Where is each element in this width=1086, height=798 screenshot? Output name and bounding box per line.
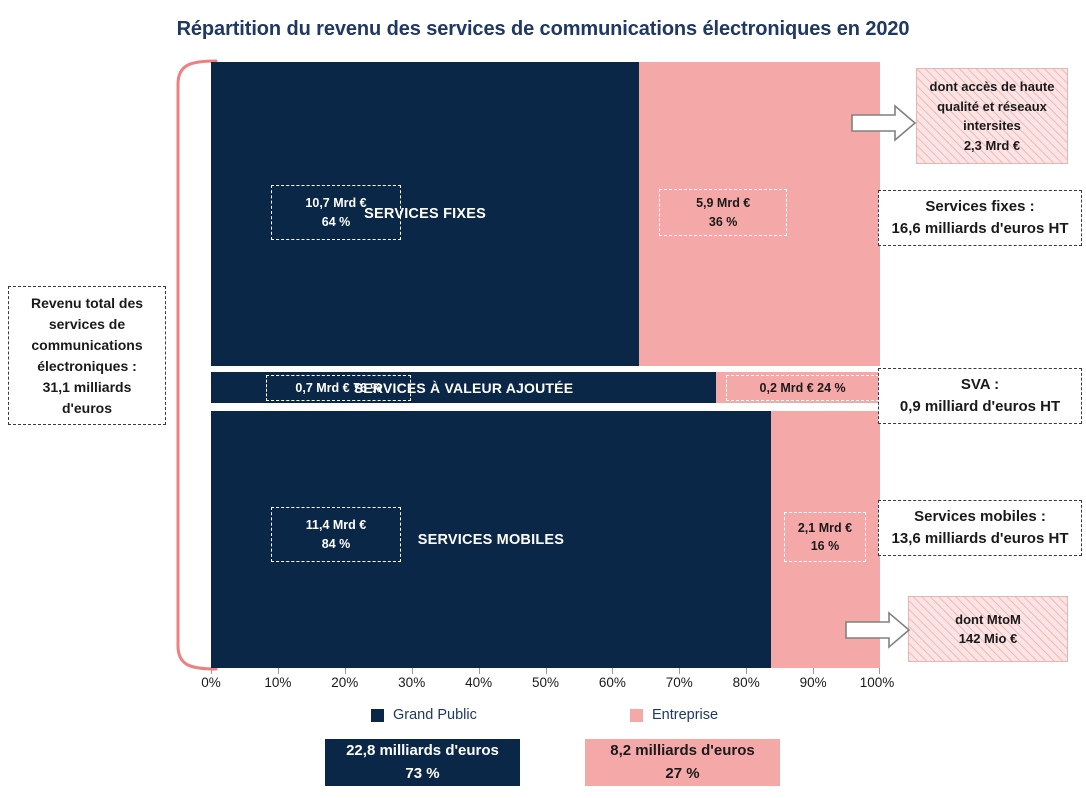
callout-sva: SVA : 0,9 milliard d'euros HT (878, 368, 1082, 424)
x-tick-label: 10% (264, 675, 291, 690)
bar-services-mobiles: 11,4 Mrd € 84 % SERVICES MOBILES 2,1 Mrd… (211, 411, 880, 668)
callout-services-fixes: Services fixes : 16,6 milliards d'euros … (878, 190, 1082, 246)
callout-revenu-total: Revenu total des services de communicati… (8, 286, 166, 425)
callout-line: 2,3 Mrd € (964, 136, 1020, 156)
chip-amount: 2,1 Mrd € (798, 519, 852, 537)
callout-line: qualité et réseaux (937, 97, 1047, 117)
chip-amount: 5,9 Mrd € (696, 194, 750, 212)
total-box-entreprise: 8,2 milliards d'euros 27 % (585, 739, 780, 786)
total-percent: 73 % (405, 763, 439, 786)
legend-item-entreprise[interactable]: Entreprise (630, 707, 718, 723)
chip-percent: 16 % (811, 537, 840, 555)
x-tick-label: 60% (599, 675, 626, 690)
total-box-grand-public: 22,8 milliards d'euros 73 % (325, 739, 520, 786)
callout-line: électroniques : (37, 356, 137, 377)
arrow-right-icon (851, 104, 917, 147)
callout-line: 13,6 milliards d'euros HT (892, 528, 1069, 551)
callout-line: d'euros (62, 398, 112, 419)
callout-line: Revenu total des (31, 293, 143, 314)
callout-haute-qualite: dont accès de haute qualité et réseaux i… (916, 68, 1068, 164)
callout-line: dont MtoM (955, 610, 1021, 630)
chip-fixes-entreprise: 5,9 Mrd € 36 % (659, 189, 787, 236)
total-amount: 22,8 milliards d'euros (346, 740, 499, 763)
callout-line: 0,9 milliard d'euros HT (900, 396, 1060, 419)
legend-item-grand-public[interactable]: Grand Public (371, 707, 477, 723)
x-tick-label: 0% (201, 675, 221, 690)
callout-line: 31,1 milliards (43, 377, 132, 398)
x-tick-label: 100% (860, 675, 895, 690)
callout-line: dont accès de haute (930, 77, 1055, 97)
segment-fixes-entreprise[interactable]: 5,9 Mrd € 36 % (639, 62, 880, 366)
page-title: Répartition du revenu des services de co… (0, 18, 1086, 41)
x-axis: 0% 10% 20% 30% 40% 50% 60% 70% 80% 90% 1… (211, 668, 880, 698)
callout-line: intersites (963, 116, 1021, 136)
x-tick-label: 90% (800, 675, 827, 690)
x-tick-label: 40% (465, 675, 492, 690)
callout-line: 142 Mio € (959, 629, 1018, 649)
legend-swatch-icon (630, 709, 643, 722)
chip-percent: 36 % (709, 213, 738, 231)
chip-mobiles-entreprise: 2,1 Mrd € 16 % (784, 512, 866, 562)
chip-sva-entreprise: 0,2 Mrd € 24 % (726, 375, 879, 401)
legend: Grand Public Entreprise (0, 707, 1086, 731)
plot-area: 10,7 Mrd € 64 % SERVICES FIXES 5,9 Mrd €… (211, 62, 880, 668)
total-percent: 27 % (665, 763, 699, 786)
total-amount: 8,2 milliards d'euros (610, 740, 754, 763)
bar-services-fixes: 10,7 Mrd € 64 % SERVICES FIXES 5,9 Mrd €… (211, 62, 880, 366)
callout-line: SVA : (961, 374, 999, 397)
x-tick-label: 20% (331, 675, 358, 690)
segment-sva-grand-public[interactable]: 0,7 Mrd € 76 % SERVICES À VALEUR AJOUTÉE (211, 372, 716, 403)
x-tick-label: 70% (666, 675, 693, 690)
callout-line: Services fixes : (925, 196, 1034, 219)
callout-line: 16,6 milliards d'euros HT (892, 218, 1069, 241)
callout-line: services de (49, 314, 125, 335)
bar-label-services-mobiles: SERVICES MOBILES (211, 532, 771, 548)
bar-label-services-fixes: SERVICES FIXES (211, 206, 639, 222)
callout-line: Services mobiles : (914, 506, 1046, 529)
chip-amount: 0,2 Mrd € 24 % (760, 379, 846, 397)
callout-services-mobiles: Services mobiles : 13,6 milliards d'euro… (878, 500, 1082, 556)
x-tick-label: 30% (398, 675, 425, 690)
x-tick-label: 50% (532, 675, 559, 690)
legend-label: Entreprise (652, 707, 718, 723)
segment-sva-entreprise[interactable]: 0,2 Mrd € 24 % (716, 372, 880, 403)
legend-swatch-icon (371, 709, 384, 722)
segment-fixes-grand-public[interactable]: 10,7 Mrd € 64 % SERVICES FIXES (211, 62, 639, 366)
chart-canvas: Répartition du revenu des services de co… (0, 0, 1086, 798)
segment-mobiles-grand-public[interactable]: 11,4 Mrd € 84 % SERVICES MOBILES (211, 411, 771, 668)
bar-services-valeur-ajoutee: 0,7 Mrd € 76 % SERVICES À VALEUR AJOUTÉE… (211, 372, 880, 403)
x-tick-label: 80% (733, 675, 760, 690)
bar-label-sva: SERVICES À VALEUR AJOUTÉE (211, 380, 716, 396)
arrow-right-icon (845, 611, 911, 654)
legend-label: Grand Public (393, 707, 477, 723)
callout-line: communications (31, 335, 142, 356)
callout-mtom: dont MtoM 142 Mio € (908, 596, 1068, 662)
